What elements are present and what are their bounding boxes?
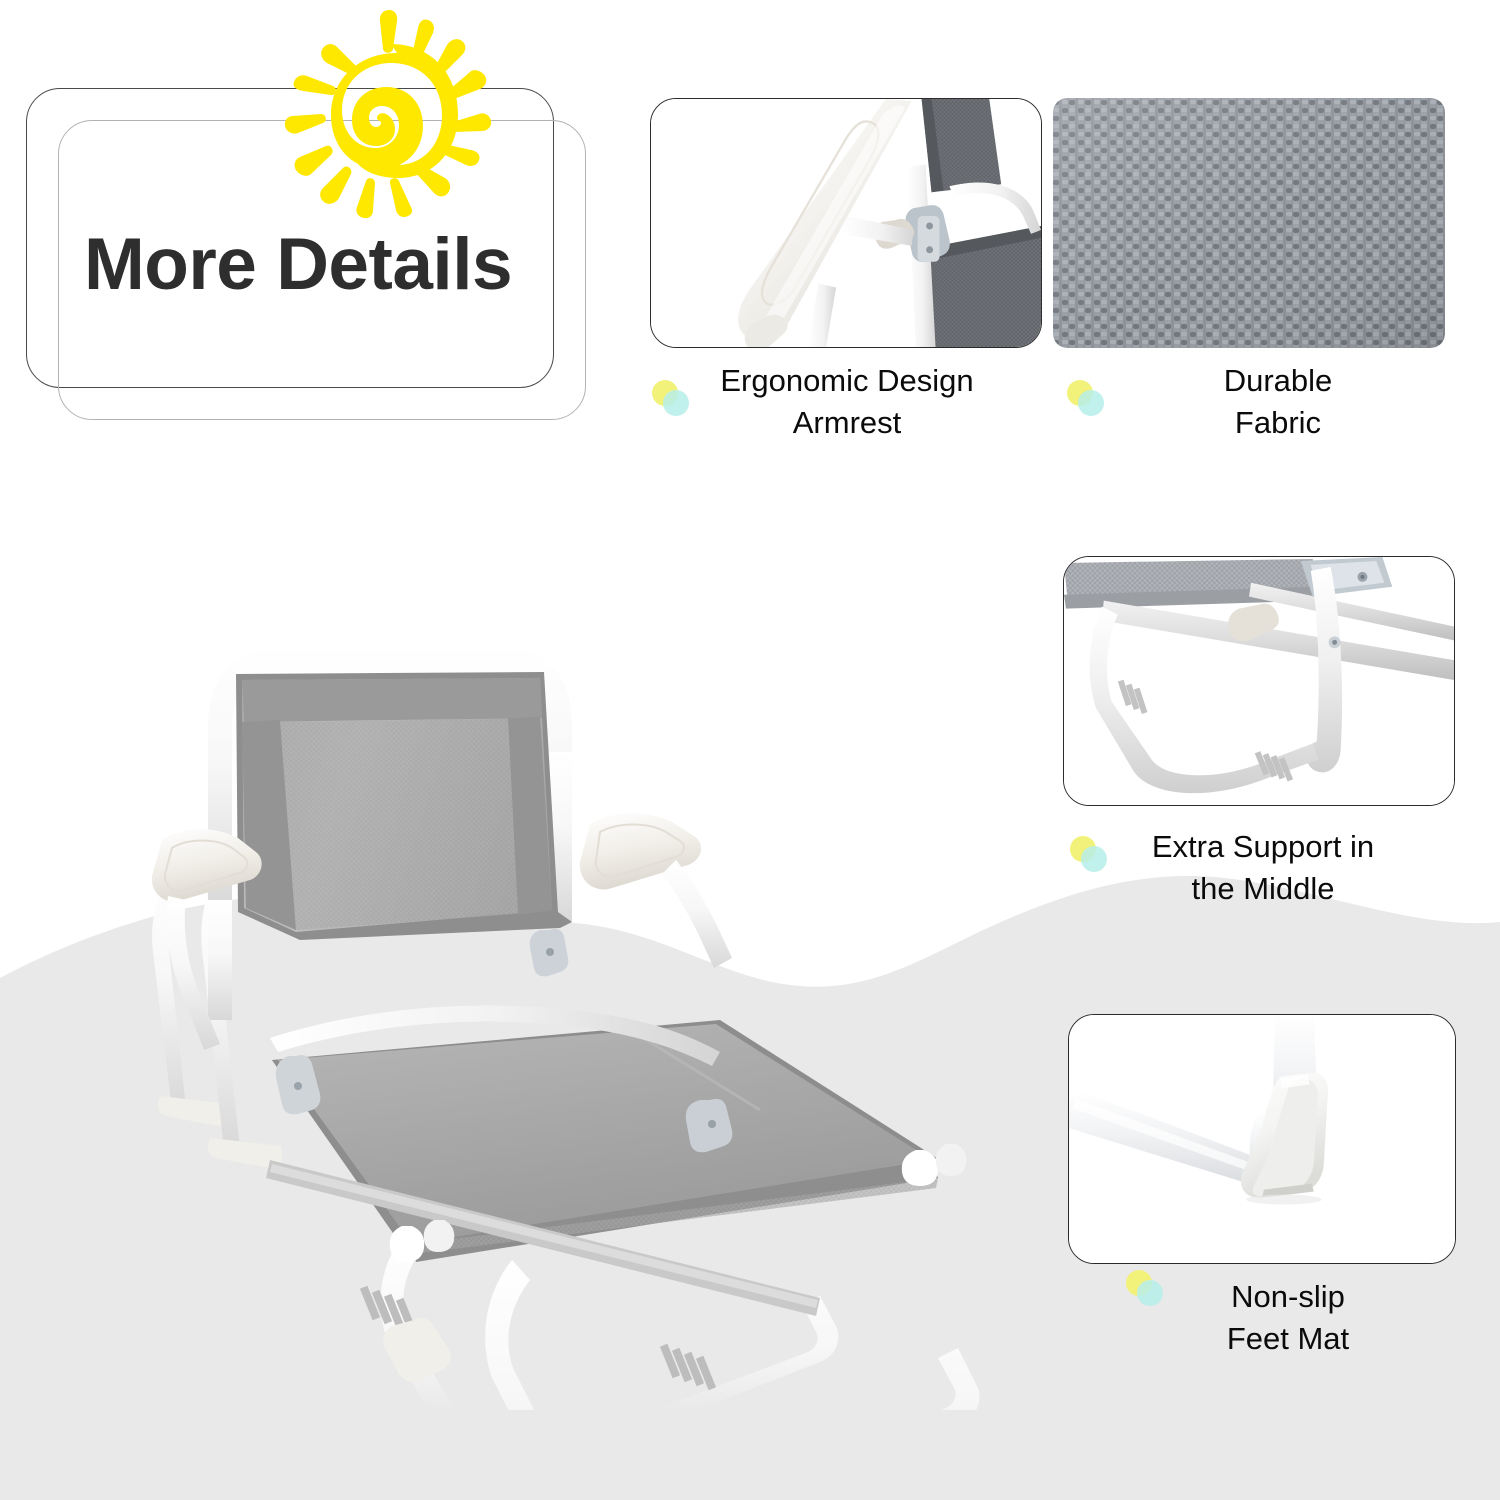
support-photo-frame: [1063, 556, 1455, 806]
fabric-photo-frame: [1053, 98, 1445, 348]
fabric-weave-swatch-photo: [1053, 98, 1445, 348]
armrest-photo-frame: [650, 98, 1042, 348]
feet-photo-frame: [1068, 1014, 1456, 1264]
non-slip-foot-mat-photo: [1069, 1015, 1455, 1263]
product-photo-lounge-chair: [120, 460, 1020, 1410]
panel-caption-support: Extra Support in the Middle: [1063, 826, 1463, 910]
sun-doodle-icon: [276, 8, 506, 238]
dual-dot-bullet-icon: [1063, 378, 1109, 418]
armrest-closeup-photo: [651, 99, 1041, 347]
page-title: More Details: [84, 228, 554, 301]
middle-support-bar-photo: [1064, 557, 1454, 805]
panel-caption-feet: Non-slip Feet Mat: [1118, 1276, 1458, 1360]
panel-caption-fabric: Durable Fabric: [1113, 360, 1443, 444]
panel-caption-armrest: Ergonomic Design Armrest: [642, 360, 1052, 444]
infographic-stage: More Details: [0, 0, 1500, 1500]
